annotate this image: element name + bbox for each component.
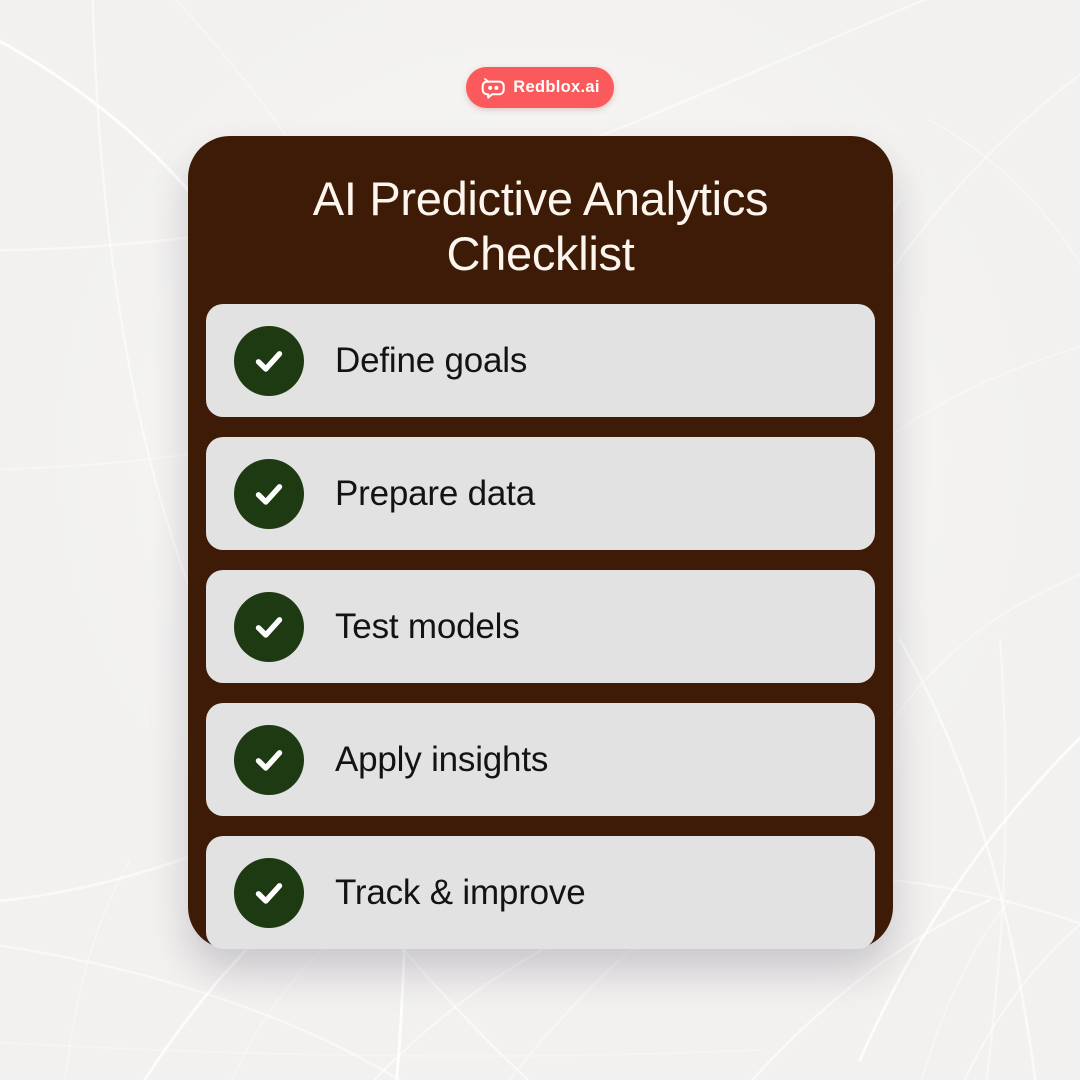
check-circle-icon[interactable] bbox=[234, 592, 304, 662]
list-item-label: Apply insights bbox=[335, 742, 548, 777]
list-item[interactable]: Define goals bbox=[206, 304, 875, 417]
check-circle-icon[interactable] bbox=[234, 326, 304, 396]
list-item-label: Define goals bbox=[335, 343, 527, 378]
list-item-label: Track & improve bbox=[335, 875, 585, 910]
poster-canvas: Redblox.ai AI Predictive Analytics Check… bbox=[0, 0, 1080, 1080]
list-item[interactable]: Prepare data bbox=[206, 437, 875, 550]
check-circle-icon[interactable] bbox=[234, 858, 304, 928]
list-item[interactable]: Track & improve bbox=[206, 836, 875, 949]
list-item[interactable]: Apply insights bbox=[206, 703, 875, 816]
list-item-label: Prepare data bbox=[335, 476, 535, 511]
chat-bot-icon bbox=[480, 77, 506, 99]
check-circle-icon[interactable] bbox=[234, 459, 304, 529]
list-item[interactable]: Test models bbox=[206, 570, 875, 683]
checklist: Define goals Prepare data Test models bbox=[206, 304, 875, 949]
list-item-label: Test models bbox=[335, 609, 520, 644]
brand-name-label: Redblox.ai bbox=[513, 79, 599, 96]
checklist-card: AI Predictive Analytics Checklist Define… bbox=[188, 136, 893, 949]
page-title: AI Predictive Analytics Checklist bbox=[206, 136, 875, 281]
brand-logo-pill[interactable]: Redblox.ai bbox=[466, 67, 614, 108]
check-circle-icon[interactable] bbox=[234, 725, 304, 795]
